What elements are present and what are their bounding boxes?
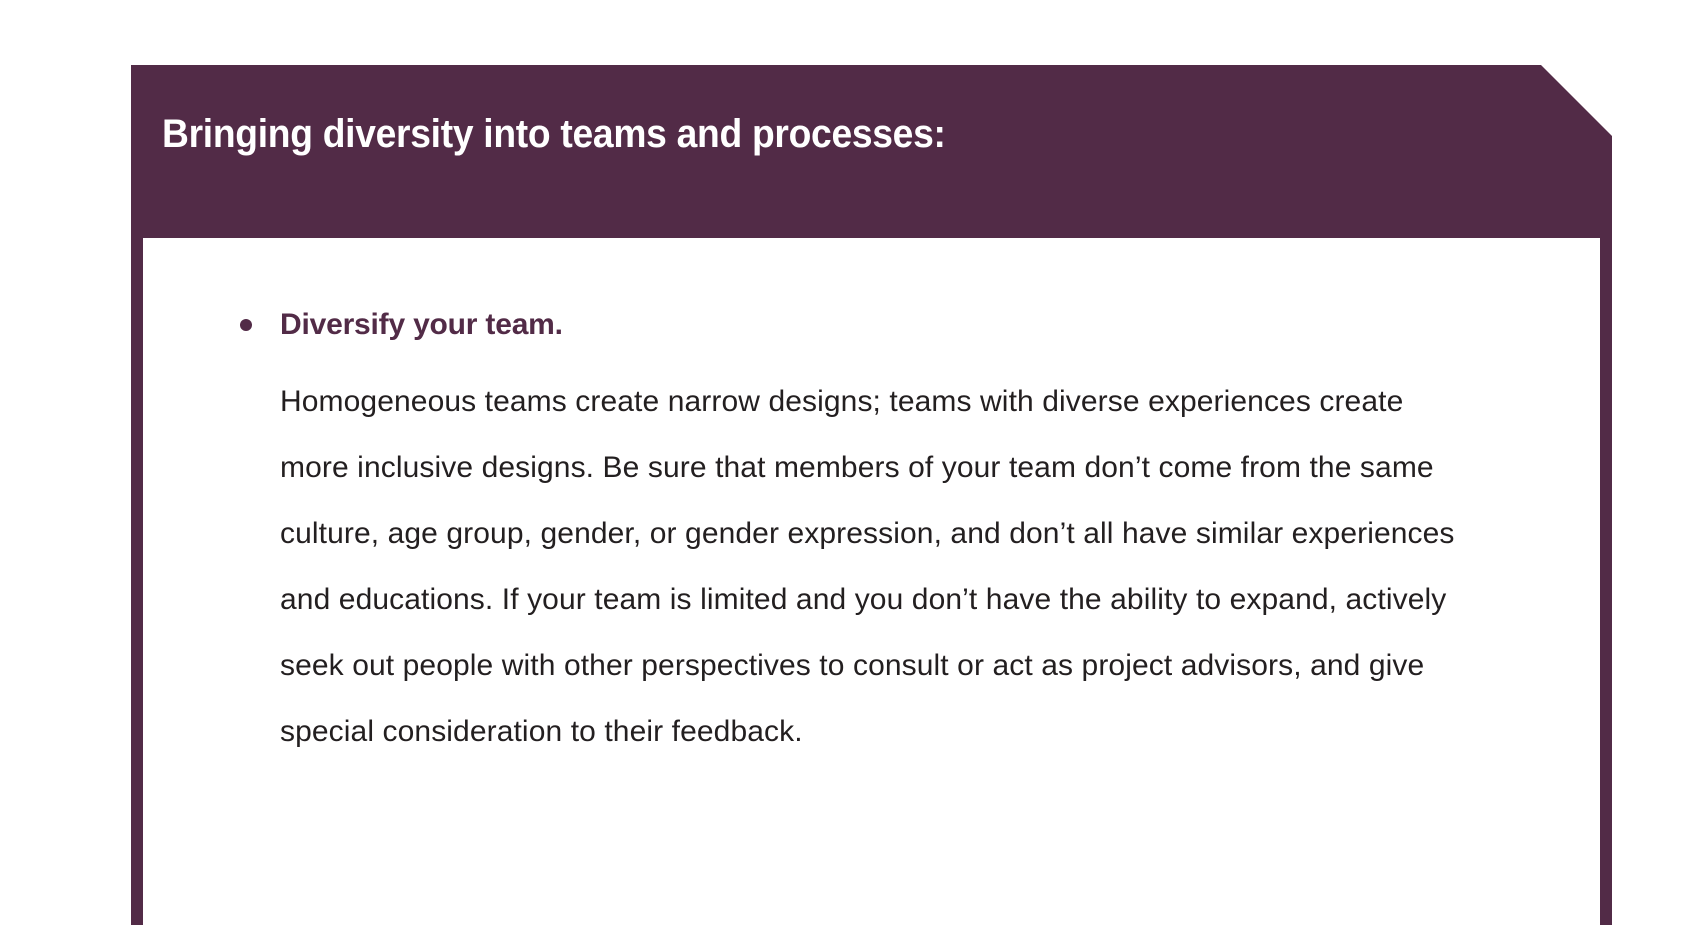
bullet-list: Diversify your team. Homogeneous teams c… [228,303,1518,765]
callout-card-header: Bringing diversity into teams and proces… [131,65,1612,238]
callout-card-body: Diversify your team. Homogeneous teams c… [143,238,1600,925]
callout-card: Bringing diversity into teams and proces… [131,65,1612,925]
page-root: Bringing diversity into teams and proces… [0,0,1706,918]
bullet-dot-icon [240,319,252,331]
page-title: Bringing diversity into teams and proces… [162,112,946,157]
list-item: Diversify your team. Homogeneous teams c… [228,303,1518,765]
list-item-heading: Diversify your team. [280,303,1518,347]
list-item-body: Homogeneous teams create narrow designs;… [280,369,1455,765]
